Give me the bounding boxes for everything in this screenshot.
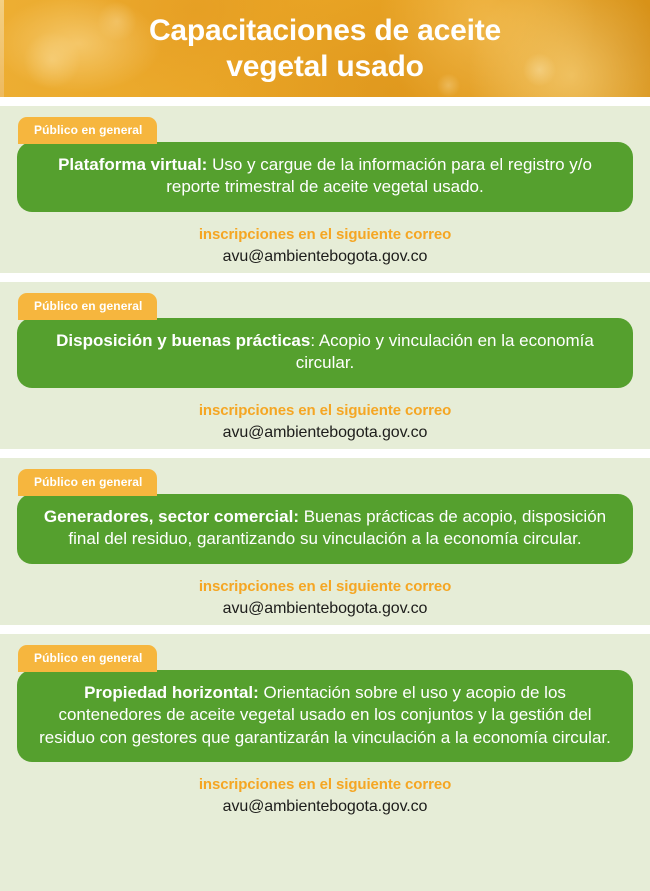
training-description-box: Generadores, sector comercial: Buenas pr… <box>17 494 633 564</box>
signup-label: inscripciones en el siguiente correo <box>17 776 633 793</box>
training-card: Público en general Disposición y buenas … <box>0 282 650 449</box>
poster-root: Capacitaciones de aceite vegetal usado P… <box>0 0 650 891</box>
training-title: Propiedad horizontal: <box>84 683 259 702</box>
contact-email[interactable]: avu@ambientebogota.gov.co <box>17 798 633 816</box>
audience-tag: Público en general <box>18 469 157 496</box>
contact-email[interactable]: avu@ambientebogota.gov.co <box>17 424 633 442</box>
training-card: Público en general Propiedad horizontal:… <box>0 634 650 891</box>
training-description-box: Propiedad horizontal: Orientación sobre … <box>17 670 633 762</box>
training-card: Público en general Plataforma virtual: U… <box>0 106 650 273</box>
contact-email[interactable]: avu@ambientebogota.gov.co <box>17 600 633 618</box>
contact-email[interactable]: avu@ambientebogota.gov.co <box>17 248 633 266</box>
training-title: Generadores, sector comercial: <box>44 507 299 526</box>
page-title: Capacitaciones de aceite vegetal usado <box>89 13 561 83</box>
signup-label: inscripciones en el siguiente correo <box>17 402 633 419</box>
training-card-list: Público en general Plataforma virtual: U… <box>0 97 650 891</box>
training-description: : Acopio y vinculación en la economía ci… <box>296 331 594 372</box>
training-title: Disposición y buenas prácticas <box>56 331 310 350</box>
training-description-box: Disposición y buenas prácticas: Acopio y… <box>17 318 633 388</box>
signup-label: inscripciones en el siguiente correo <box>17 578 633 595</box>
training-card: Público en general Generadores, sector c… <box>0 458 650 625</box>
signup-label: inscripciones en el siguiente correo <box>17 226 633 243</box>
header-left-edge-accent <box>0 0 4 97</box>
audience-tag: Público en general <box>18 293 157 320</box>
training-description: Uso y cargue de la información para el r… <box>166 155 592 196</box>
training-description-box: Plataforma virtual: Uso y cargue de la i… <box>17 142 633 212</box>
poster-header: Capacitaciones de aceite vegetal usado <box>0 0 650 97</box>
audience-tag: Público en general <box>18 117 157 144</box>
audience-tag: Público en general <box>18 645 157 672</box>
training-title: Plataforma virtual: <box>58 155 207 174</box>
